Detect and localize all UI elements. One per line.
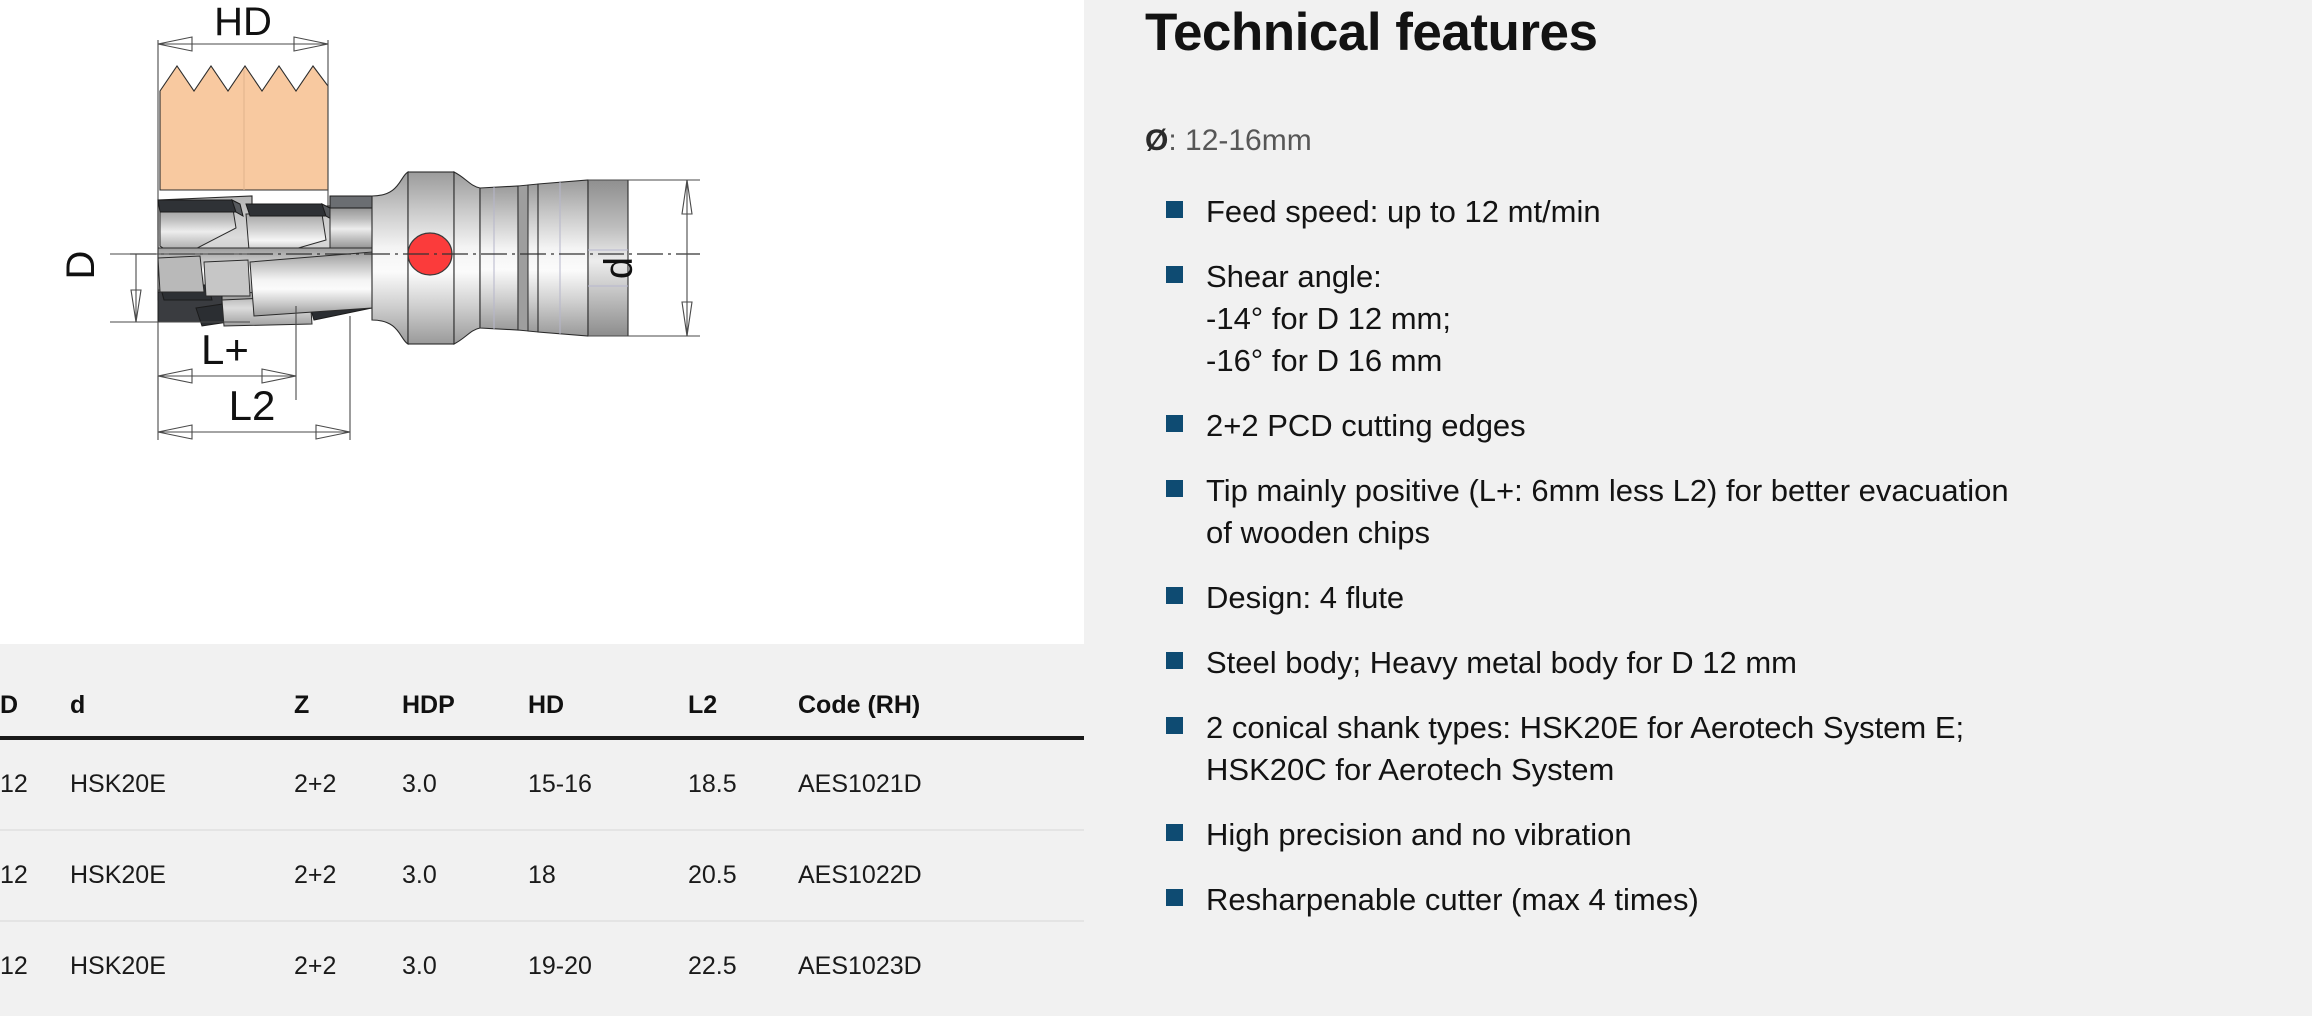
bullet-square-icon <box>1166 824 1183 841</box>
cell-d: 12 <box>0 921 70 1011</box>
diameter-value: : 12-16mm <box>1168 124 1311 157</box>
feature-text-line: Resharpenable cutter (max 4 times) <box>1206 878 2255 920</box>
cell-l2: 18.5 <box>688 738 798 830</box>
cell-code: AES1023D <box>798 921 1084 1011</box>
bullet-square-icon <box>1166 415 1183 432</box>
cell-d-small: HSK20E <box>70 738 294 830</box>
cell-hdp: 3.0 <box>402 921 528 1011</box>
feature-list-item: Tip mainly positive (L+: 6mm less L2) fo… <box>1145 469 2255 553</box>
feature-list-item: High precision and no vibration <box>1145 813 2255 855</box>
diameter-spec: Ø: 12-16mm <box>1145 124 1312 158</box>
bullet-square-icon <box>1166 652 1183 669</box>
bullet-square-icon <box>1166 587 1183 604</box>
feature-text-line: Design: 4 flute <box>1206 576 2255 618</box>
feature-text-line: of wooden chips <box>1206 511 2255 553</box>
diameter-symbol: Ø <box>1145 124 1168 157</box>
bullet-square-icon <box>1166 889 1183 906</box>
column-header-hdp: HDP <box>402 644 528 738</box>
feature-list-item: 2+2 PCD cutting edges <box>1145 404 2255 446</box>
bullet-square-icon <box>1166 480 1183 497</box>
label-d-lower: d <box>597 257 641 279</box>
cell-d-small: HSK20E <box>70 921 294 1011</box>
cell-code: AES1022D <box>798 830 1084 921</box>
tool-drawing-svg: HD D d L+ L2 <box>0 0 1084 644</box>
column-header-hd: HD <box>528 644 688 738</box>
feature-text-line: 2+2 PCD cutting edges <box>1206 404 2255 446</box>
cell-hd: 15-16 <box>528 738 688 830</box>
label-hd: HD <box>214 0 272 44</box>
cell-z: 2+2 <box>294 830 402 921</box>
column-header-d: D <box>0 644 70 738</box>
table-row[interactable]: 12 HSK20E 2+2 3.0 15-16 18.5 AES1021D <box>0 738 1084 830</box>
bullet-square-icon <box>1166 266 1183 283</box>
cell-hd: 19-20 <box>528 921 688 1011</box>
feature-text-line: Feed speed: up to 12 mt/min <box>1206 190 2255 232</box>
feature-text-line: -14° for D 12 mm; <box>1206 297 2255 339</box>
cell-hd: 18 <box>528 830 688 921</box>
cutter-head <box>158 196 372 326</box>
table-header-row: D d Z HDP HD L2 Code (RH) <box>0 644 1084 738</box>
cell-hdp: 3.0 <box>402 830 528 921</box>
workpiece-block <box>160 66 328 190</box>
feature-text-line: Steel body; Heavy metal body for D 12 mm <box>1206 641 2255 683</box>
feature-text-line: High precision and no vibration <box>1206 813 2255 855</box>
cell-z: 2+2 <box>294 738 402 830</box>
technical-features-panel: Technical features Ø: 12-16mm Feed speed… <box>1145 0 2265 1016</box>
feature-list-item: Steel body; Heavy metal body for D 12 mm <box>1145 641 2255 683</box>
column-header-z: Z <box>294 644 402 738</box>
page-root: HD D d L+ L2 D d Z HDP HD L2 Code (RH) <box>0 0 2312 1016</box>
cell-d: 12 <box>0 830 70 921</box>
features-list: Feed speed: up to 12 mt/minShear angle:-… <box>1145 190 2255 943</box>
label-l2: L2 <box>229 382 276 429</box>
cell-hdp: 3.0 <box>402 738 528 830</box>
cell-d-small: HSK20E <box>70 830 294 921</box>
table-row[interactable]: 12 HSK20E 2+2 3.0 19-20 22.5 AES1023D <box>0 921 1084 1011</box>
label-d-upper: D <box>59 251 103 280</box>
cell-code: AES1021D <box>798 738 1084 830</box>
feature-list-item: Resharpenable cutter (max 4 times) <box>1145 878 2255 920</box>
table-row[interactable]: 12 HSK20E 2+2 3.0 18 20.5 AES1022D <box>0 830 1084 921</box>
cell-l2: 22.5 <box>688 921 798 1011</box>
page-title: Technical features <box>1145 2 1597 63</box>
technical-drawing-panel: HD D d L+ L2 <box>0 0 1084 644</box>
bullet-square-icon <box>1166 201 1183 218</box>
feature-text-line: HSK20C for Aerotech System <box>1206 748 2255 790</box>
feature-text-line: Tip mainly positive (L+: 6mm less L2) fo… <box>1206 469 2255 511</box>
feature-list-item: Feed speed: up to 12 mt/min <box>1145 190 2255 232</box>
feature-text-line: Shear angle: <box>1206 255 2255 297</box>
feature-list-item: 2 conical shank types: HSK20E for Aerote… <box>1145 706 2255 790</box>
column-header-l2: L2 <box>688 644 798 738</box>
feature-text-line: -16° for D 16 mm <box>1206 339 2255 381</box>
feature-text-line: 2 conical shank types: HSK20E for Aerote… <box>1206 706 2255 748</box>
specification-table: D d Z HDP HD L2 Code (RH) 12 HSK20E 2+2 … <box>0 644 1084 1011</box>
feature-list-item: Design: 4 flute <box>1145 576 2255 618</box>
feature-list-item: Shear angle:-14° for D 12 mm;-16° for D … <box>1145 255 2255 381</box>
label-l-plus: L+ <box>201 326 249 373</box>
cell-d: 12 <box>0 738 70 830</box>
column-header-code-rh: Code (RH) <box>798 644 1084 738</box>
tool-shank <box>372 172 628 344</box>
cell-l2: 20.5 <box>688 830 798 921</box>
bullet-square-icon <box>1166 717 1183 734</box>
specification-table-wrapper: D d Z HDP HD L2 Code (RH) 12 HSK20E 2+2 … <box>0 644 1084 1016</box>
cell-z: 2+2 <box>294 921 402 1011</box>
column-header-d-small: d <box>70 644 294 738</box>
